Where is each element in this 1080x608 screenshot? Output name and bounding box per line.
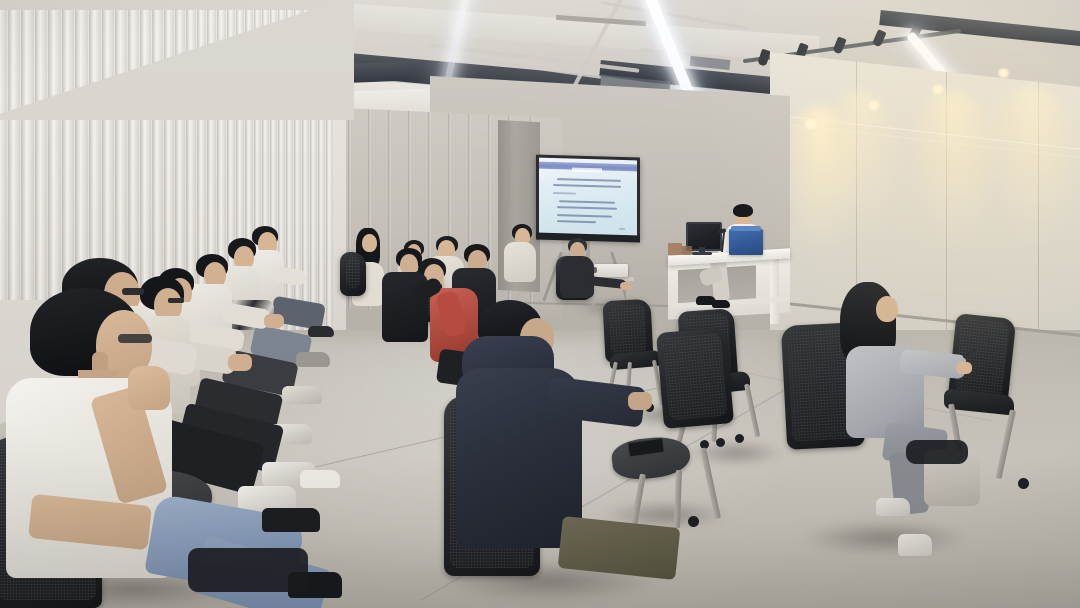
blue-bag-handle xyxy=(731,226,761,231)
chair-caster xyxy=(716,438,725,447)
cardboard-box-on-desk xyxy=(682,246,692,255)
glasses-icon xyxy=(118,334,152,343)
cardboard-box-on-desk xyxy=(668,243,682,255)
presenter-shoe xyxy=(712,300,730,308)
glasses-icon xyxy=(122,288,144,295)
ceiling-soffit-band xyxy=(299,0,820,62)
wall-downlight-icon xyxy=(996,68,1011,78)
slide-title-text xyxy=(572,168,601,173)
person-shoe xyxy=(300,470,340,488)
person-shoe xyxy=(898,534,932,556)
person-shoe xyxy=(262,508,320,532)
person-hand xyxy=(264,314,284,328)
chair-back[interactable] xyxy=(656,327,734,429)
chair-base-foreground xyxy=(188,548,308,592)
person-shoe xyxy=(308,326,334,337)
person-shoe xyxy=(296,352,330,367)
projector xyxy=(594,264,628,277)
floor-shadow xyxy=(800,520,970,556)
blue-bag-on-desk xyxy=(729,229,763,255)
presenter-hair xyxy=(733,204,753,217)
bag-on-stool xyxy=(906,440,968,464)
wall-downlight-icon xyxy=(930,84,946,95)
person-hand xyxy=(620,282,632,290)
person-head xyxy=(876,296,898,322)
wall-spot-glow xyxy=(984,80,1080,251)
curtain-track xyxy=(0,0,346,10)
wall-downlight-icon xyxy=(866,100,882,111)
person-hand xyxy=(228,354,252,371)
person-hand xyxy=(956,362,972,374)
ceiling-beam-d xyxy=(879,10,1080,49)
person-hand xyxy=(128,366,170,410)
chair-caster xyxy=(688,516,699,527)
projection-screen-surface xyxy=(539,158,637,239)
chair[interactable] xyxy=(340,252,366,296)
person-torso xyxy=(504,242,536,282)
person-shoe xyxy=(876,498,910,516)
person-hand xyxy=(628,392,652,410)
person-torso xyxy=(382,272,428,342)
desk-leg xyxy=(770,258,779,325)
person-head xyxy=(362,234,377,252)
wall-downlight-icon xyxy=(802,118,820,130)
slide-header-band xyxy=(539,162,637,172)
monitor-base xyxy=(692,252,712,255)
chair-caster xyxy=(1018,478,1029,489)
glasses-icon xyxy=(168,298,184,303)
classroom-photo xyxy=(0,0,1080,608)
chair-caster xyxy=(735,434,744,443)
person-shoe xyxy=(282,386,322,404)
projection-screen xyxy=(536,155,640,242)
